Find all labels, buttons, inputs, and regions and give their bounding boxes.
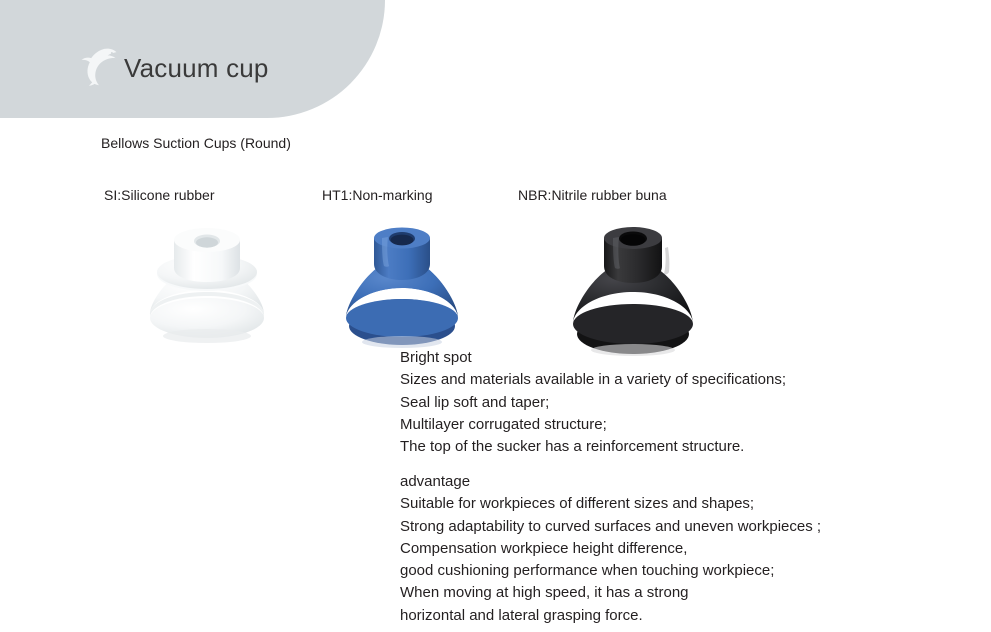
advantage-heading: advantage [400, 471, 821, 493]
advantage-line: good cushioning performance when touchin… [400, 560, 821, 582]
material-label: HT1:Non-marking [322, 186, 464, 204]
section-subtitle: Bellows Suction Cups (Round) [101, 134, 291, 152]
bright-spot-line: Sizes and materials available in a varie… [400, 369, 786, 391]
header-banner: Vacuum cup [0, 0, 385, 118]
advantage-line: When moving at high speed, it has a stro… [400, 582, 821, 604]
advantage-line: horizontal and lateral grasping force. [400, 605, 821, 627]
advantage-line: Strong adaptability to curved surfaces a… [400, 516, 821, 538]
advantage-line: Suitable for workpieces of different siz… [400, 493, 821, 515]
bright-spot-heading: Bright spot [400, 347, 786, 369]
advantage-block: advantage Suitable for workpieces of dif… [400, 471, 821, 627]
bright-spot-line: The top of the sucker has a reinforcemen… [400, 436, 786, 458]
bright-spot-line: Multilayer corrugated structure; [400, 414, 786, 436]
suction-cup-black-icon [566, 218, 700, 348]
material-label: NBR:Nitrile rubber buna [518, 186, 700, 204]
dolphin-icon [76, 42, 122, 88]
material-column-non-marking: HT1:Non-marking [322, 186, 464, 348]
material-column-silicone: SI:Silicone rubber [104, 186, 270, 348]
bright-spot-block: Bright spot Sizes and materials availabl… [400, 347, 786, 458]
advantage-line: Compensation workpiece height difference… [400, 538, 821, 560]
bright-spot-line: Seal lip soft and taper; [400, 392, 786, 414]
suction-cup-white-icon [144, 218, 270, 348]
material-column-nitrile: NBR:Nitrile rubber buna [518, 186, 700, 348]
material-label: SI:Silicone rubber [104, 186, 270, 204]
suction-cup-blue-icon [340, 218, 464, 348]
page-title: Vacuum cup [124, 52, 269, 84]
